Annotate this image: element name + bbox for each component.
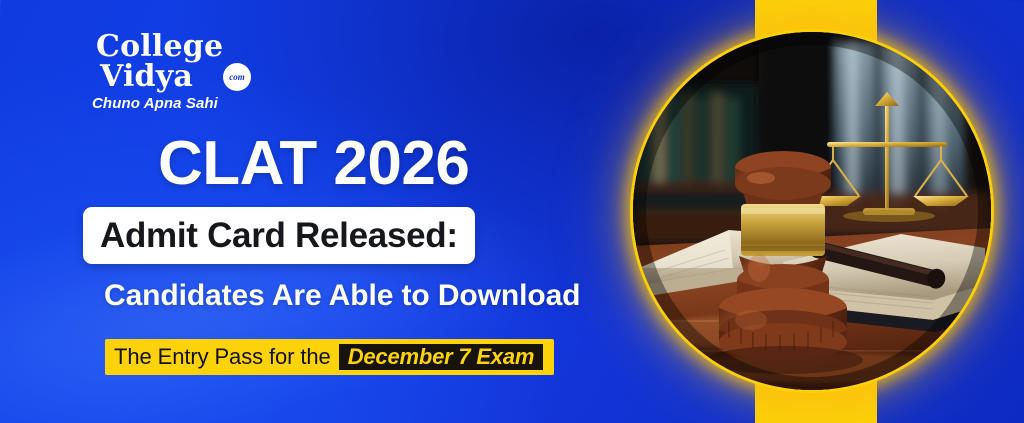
headline-body: Candidates Are Able to Download <box>104 281 580 311</box>
headline-highlight-bar: The Entry Pass for the December 7 Exam <box>105 339 554 375</box>
promo-banner: College Vidya com Chuno Apna Sahi CLAT 2… <box>0 0 1024 423</box>
highlight-date-text: December 7 Exam <box>348 346 535 368</box>
highlight-date-chip: December 7 Exam <box>337 342 546 372</box>
headline-subtitle: Admit Card Released: <box>100 218 458 253</box>
logo-wordmark: College Vidya com <box>88 33 263 89</box>
hero-image-gavel <box>633 32 991 390</box>
brand-tagline: Chuno Apna Sahi <box>92 95 263 112</box>
headline-title: CLAT 2026 <box>158 133 469 195</box>
hero-image-glow-ring <box>633 32 991 390</box>
logo-dotcom-badge: com <box>223 63 251 91</box>
brand-logo[interactable]: College Vidya com Chuno Apna Sahi <box>88 33 263 112</box>
highlight-prefix-text: The Entry Pass for the <box>114 346 337 368</box>
gavel-illustration <box>633 32 991 390</box>
logo-text-college: College <box>96 33 263 62</box>
headline-subtitle-box: Admit Card Released: <box>83 207 475 264</box>
